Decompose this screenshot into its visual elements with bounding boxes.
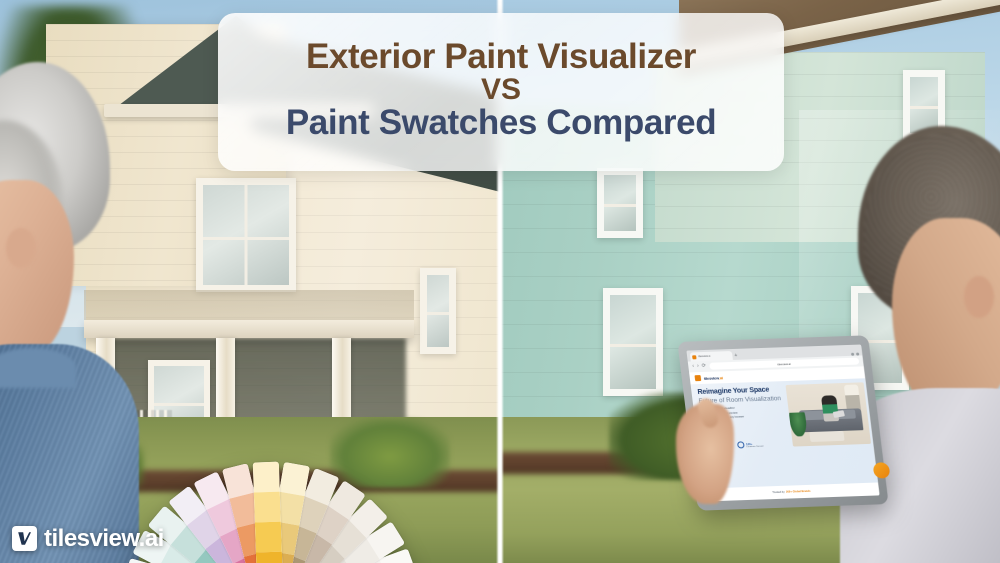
window-right-lower-left — [603, 288, 663, 396]
hero-stat-label: Countries Served — [746, 445, 763, 448]
tilesview-v-mark-icon — [12, 526, 37, 551]
window-mullion-horizontal — [203, 237, 289, 240]
person-right-ear — [964, 276, 994, 318]
window-left-upper — [196, 178, 296, 292]
favicon-icon — [692, 355, 697, 359]
window-right-small — [597, 168, 643, 238]
site-logo-text[interactable]: tilesview.ai — [704, 375, 723, 381]
window-mullion-horizontal — [427, 312, 449, 315]
browser-tab[interactable]: tilesview.ai — [690, 351, 733, 361]
title-line-2: Paint Swatches Compared — [286, 104, 716, 142]
hero-coffee-table — [809, 431, 844, 442]
person-left-collar — [0, 348, 76, 388]
paint-swatch — [254, 492, 281, 523]
paint-swatch — [256, 552, 283, 563]
window-mullion-horizontal — [610, 344, 656, 347]
hero-stat-icon — [737, 442, 745, 449]
window-mullion-horizontal — [910, 106, 938, 109]
hero-plant — [789, 412, 808, 436]
hero-seated-person — [821, 395, 839, 421]
back-icon[interactable]: ‹ — [692, 364, 694, 369]
browser-tab-title: tilesview.ai — [698, 355, 711, 358]
hero-stat: 120+Countries Served — [737, 441, 764, 449]
hero-stat-text: 120+Countries Served — [746, 441, 764, 448]
site-logo-name: tilesview — [704, 375, 720, 380]
paint-fan-deck[interactable] — [150, 312, 380, 502]
title-card: Exterior Paint Visualizer VS Paint Swatc… — [218, 13, 784, 171]
hero-room-image — [785, 382, 871, 446]
hero-trust-prefix: Trusted by — [772, 491, 785, 494]
site-logo-icon — [695, 375, 702, 381]
reload-icon[interactable]: ⟳ — [702, 364, 707, 369]
window-controls[interactable] — [851, 353, 859, 356]
banner-canvas: tilesview.ai + ‹ › ⟳ tilesview.ai — [0, 0, 1000, 563]
hero-trust-highlight: 200+ Global Brands — [786, 490, 811, 494]
forward-icon[interactable]: › — [697, 364, 699, 369]
brand-logo-text: tilesview.ai — [44, 527, 164, 551]
hero-trust-bar: Trusted by 200+ Global Brands — [703, 482, 879, 501]
site-logo-tld: .ai — [719, 375, 723, 380]
title-vs-label: VS — [481, 75, 521, 105]
paint-fan-card[interactable] — [253, 462, 284, 563]
window-mullion-vertical — [245, 185, 248, 285]
brand-logo[interactable]: tilesview.ai — [12, 526, 164, 551]
browser-nav-controls[interactable]: ‹ › ⟳ — [692, 364, 706, 369]
maximize-dot[interactable] — [856, 353, 859, 356]
window-left-side — [420, 268, 456, 354]
window-mullion-horizontal — [604, 204, 636, 207]
paint-swatch — [253, 462, 280, 493]
new-tab-button[interactable]: + — [734, 352, 738, 360]
paint-swatch — [255, 522, 282, 553]
person-left — [0, 62, 150, 563]
minimize-dot[interactable] — [851, 353, 854, 356]
paint-swatch — [279, 462, 310, 496]
title-line-1: Exterior Paint Visualizer — [306, 38, 696, 76]
person-left-ear — [6, 228, 36, 268]
